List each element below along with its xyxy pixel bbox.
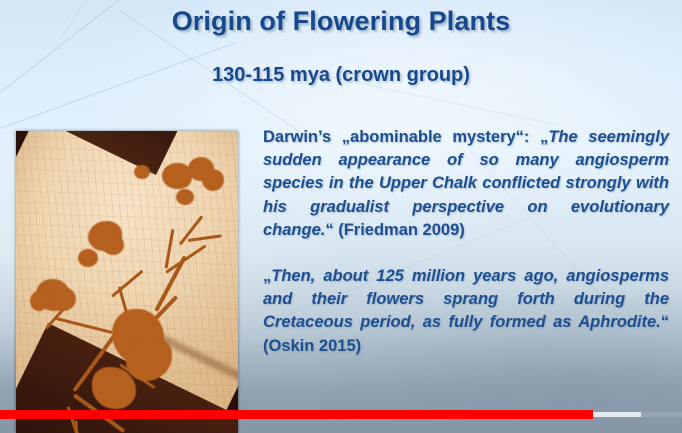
quote-italic-body: Then, about 125 million years ago, angio… bbox=[263, 267, 669, 331]
video-progress-bar[interactable] bbox=[0, 410, 682, 419]
paragraph-oskin-quote: „Then, about 125 million years ago, angi… bbox=[263, 265, 669, 358]
video-player-frame: Origin of Flowering Plants 130-115 mya (… bbox=[0, 0, 682, 433]
fossil-flowering-plant-photo bbox=[16, 131, 238, 433]
fossil-plant-impression bbox=[16, 131, 238, 433]
quote-lead-in: „ bbox=[263, 267, 271, 285]
quote-citation: “ (Friedman 2009) bbox=[325, 221, 464, 239]
slide-body-text: Darwin’s „abominable mystery“: „The seem… bbox=[263, 126, 669, 358]
quote-lead-in: Darwin’s „abominable mystery“: „ bbox=[263, 128, 548, 146]
slide-subtitle: 130-115 mya (crown group) bbox=[0, 64, 682, 87]
slide-title: Origin of Flowering Plants bbox=[0, 6, 682, 37]
paragraph-darwin-quote: Darwin’s „abominable mystery“: „The seem… bbox=[263, 126, 669, 242]
progress-played[interactable] bbox=[0, 410, 593, 419]
